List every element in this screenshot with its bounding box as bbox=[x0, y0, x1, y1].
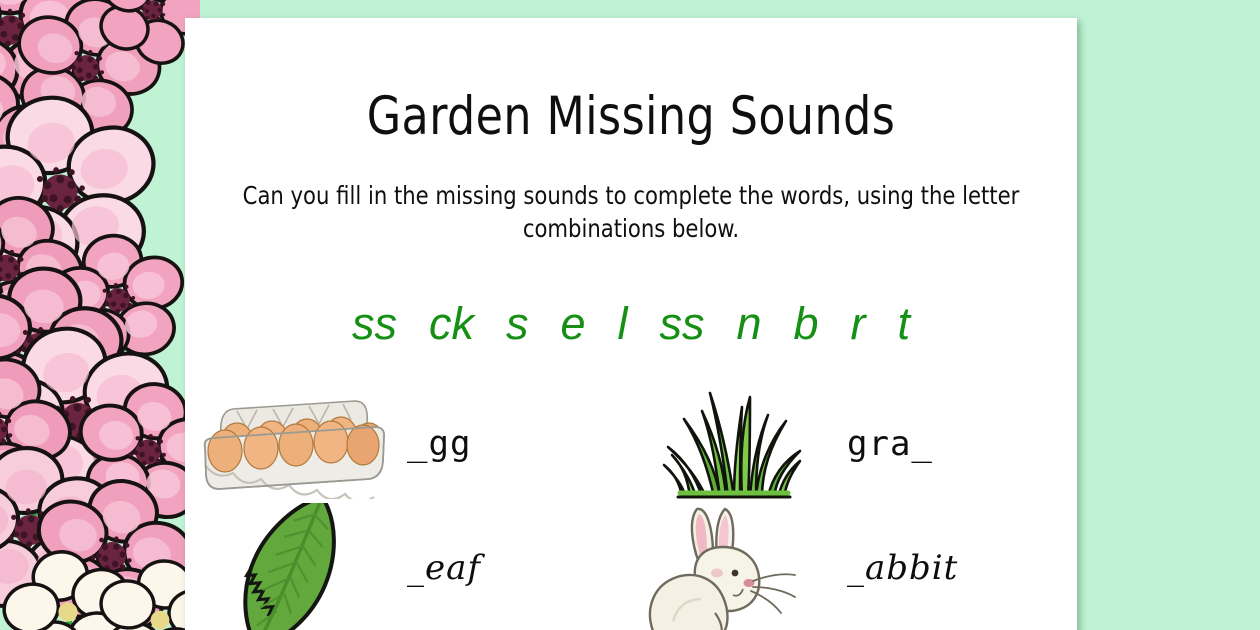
word-text-leaf: _eaf bbox=[407, 548, 481, 588]
word-item-grass: gra_ bbox=[625, 382, 1065, 506]
letter-chip-9[interactable]: t bbox=[882, 301, 927, 346]
word-item-leaf: _eaf bbox=[185, 506, 625, 630]
egg-carton-icon bbox=[185, 385, 401, 503]
word-text-grass: gra_ bbox=[847, 424, 933, 464]
letter-bank: ss ck s e l ss n b r t bbox=[185, 301, 1077, 346]
page-title: Garden Missing Sounds bbox=[216, 18, 1046, 143]
word-item-rabbit: _abbit bbox=[625, 506, 1065, 630]
letter-chip-3[interactable]: e bbox=[544, 301, 601, 346]
flower-border-decoration bbox=[0, 0, 200, 630]
letter-chip-6[interactable]: n bbox=[720, 301, 777, 346]
worksheet-page: Garden Missing Sounds Can you fill in th… bbox=[185, 18, 1077, 630]
letter-chip-4[interactable]: l bbox=[601, 301, 643, 346]
rabbit-icon bbox=[625, 503, 841, 630]
letter-chip-5[interactable]: ss bbox=[643, 301, 720, 346]
letter-chip-1[interactable]: ck bbox=[413, 301, 490, 346]
grass-icon bbox=[625, 385, 841, 503]
word-text-rabbit: _abbit bbox=[847, 548, 958, 588]
letter-chip-7[interactable]: b bbox=[778, 301, 835, 346]
worksheet-stage: Garden Missing Sounds Can you fill in th… bbox=[0, 0, 1260, 630]
page-subtitle: Can you fill in the missing sounds to co… bbox=[242, 143, 1020, 245]
word-text-egg: _gg bbox=[407, 424, 471, 464]
letter-chip-2[interactable]: s bbox=[490, 301, 545, 346]
letter-chip-0[interactable]: ss bbox=[336, 301, 413, 346]
word-grid: _gg bbox=[185, 382, 1065, 630]
word-item-egg: _gg bbox=[185, 382, 625, 506]
letter-chip-8[interactable]: r bbox=[835, 301, 882, 346]
leaf-icon bbox=[185, 503, 401, 630]
